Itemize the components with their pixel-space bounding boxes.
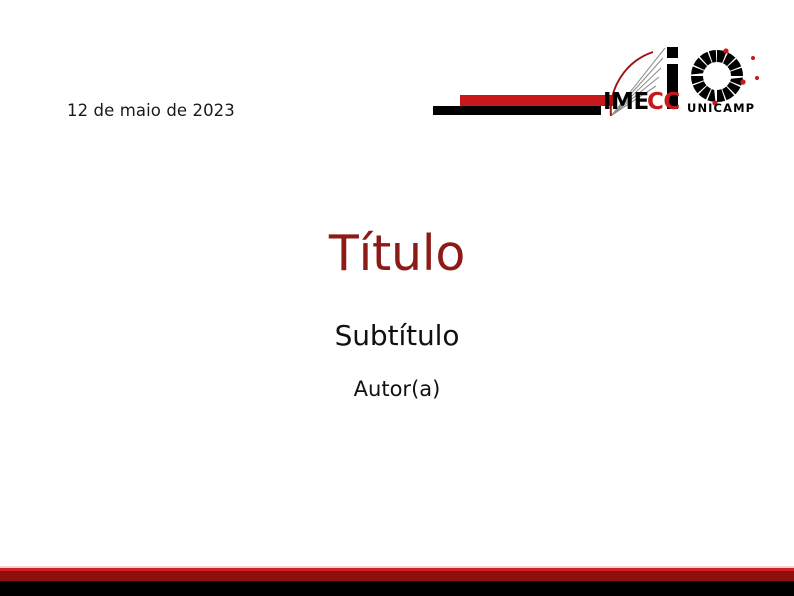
ring-dot-outer-a-icon <box>751 56 755 60</box>
ring-dot-outer-b-icon <box>755 76 759 80</box>
slide-subtitle: Subtítulo <box>0 319 794 352</box>
ring-dot-top-icon <box>723 48 728 53</box>
logo-cc-text: CC <box>647 89 680 115</box>
slide-title: Título <box>0 228 794 281</box>
logo-black-bar-icon <box>433 106 601 115</box>
slide-footer-rules <box>0 564 794 596</box>
letter-i-dot-icon <box>667 47 678 58</box>
ring-dot-right-icon <box>740 79 745 84</box>
imecc-unicamp-logo: IME CC <box>430 44 765 124</box>
unicamp-ring-icon <box>691 48 759 105</box>
slide-author: Autor(a) <box>0 377 794 401</box>
logo-ime-text: IME <box>605 89 649 115</box>
footer-rule-black <box>0 581 794 596</box>
presentation-slide: 12 de maio de 2023 IME CC <box>0 0 794 596</box>
logo-red-bar-icon <box>460 95 615 106</box>
footer-rule-dark-red <box>0 571 794 581</box>
slide-date: 12 de maio de 2023 <box>67 101 235 120</box>
logo-unicamp-text: UNICAMP <box>687 101 755 115</box>
logo-mark-icon: IME CC <box>605 44 765 124</box>
